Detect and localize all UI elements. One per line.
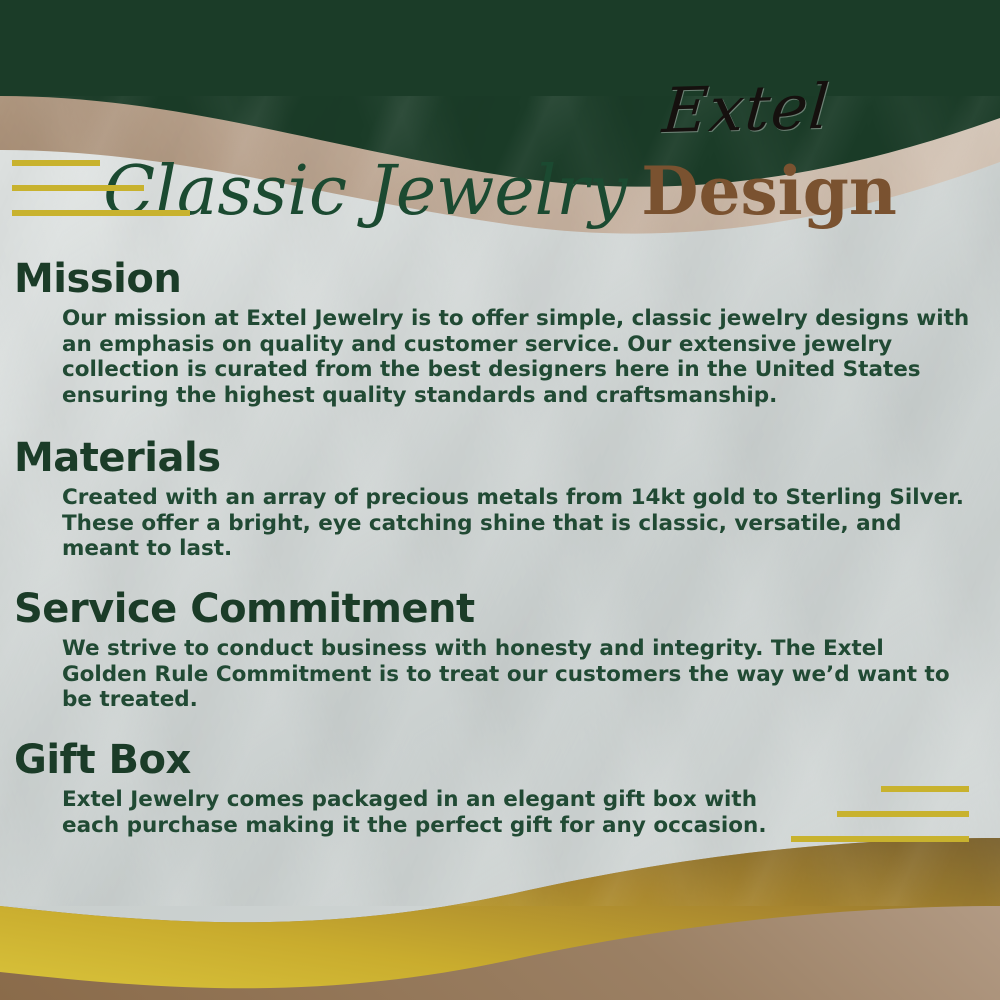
section-body-materials: Created with an array of precious metals… [62, 485, 972, 562]
accent-bars-top-left [12, 160, 190, 235]
section-heading-service-commitment: Service Commitment [14, 588, 1000, 630]
accent-bar [12, 160, 100, 166]
section-body-gift-box: Extel Jewelry comes packaged in an elega… [62, 787, 782, 838]
section-materials: Materials Created with an array of preci… [0, 437, 1000, 562]
brand-logo: Extel [660, 70, 833, 147]
section-mission: Mission Our mission at Extel Jewelry is … [0, 258, 1000, 408]
infographic-page: Extel Classic JewelryDesign Mission Our … [0, 0, 1000, 1000]
accent-bar [12, 210, 190, 216]
section-body-service-commitment: We strive to conduct business with hones… [62, 636, 972, 713]
section-heading-gift-box: Gift Box [14, 739, 1000, 781]
section-heading-materials: Materials [14, 437, 1000, 479]
accent-bar [12, 185, 144, 191]
section-gift-box: Gift Box Extel Jewelry comes packaged in… [0, 739, 1000, 838]
section-body-mission: Our mission at Extel Jewelry is to offer… [62, 306, 972, 408]
section-heading-mission: Mission [14, 258, 1000, 300]
section-service-commitment: Service Commitment We strive to conduct … [0, 588, 1000, 713]
page-title-design: Design [641, 152, 897, 230]
